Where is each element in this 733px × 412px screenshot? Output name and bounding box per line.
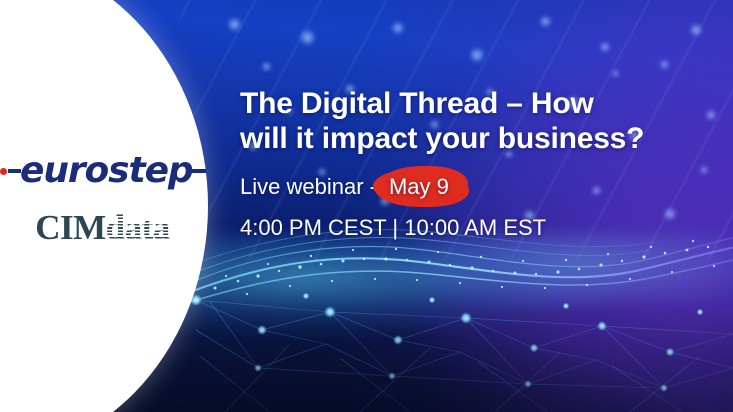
date-highlight-badge: May 9 [379,174,461,201]
eurostep-logo: eurostep [0,150,206,192]
subline-prefix: Live webinar - [240,174,377,199]
page-title: The Digital Thread – How will it impact … [240,86,710,156]
headline-line-1: The Digital Thread – How [240,87,594,120]
cimdata-solid-part: CIM [35,208,105,247]
banner-content: The Digital Thread – How will it impact … [240,86,710,239]
eurostep-red-dot-icon [0,168,7,175]
webinar-promo-banner: eurostep CIMdata The Digital Thread – Ho… [0,0,733,412]
cimdata-logo: CIMdata [0,210,205,245]
cimdata-striped-part: data [106,208,170,247]
eurostep-wordmark: eurostep [20,153,193,189]
webinar-time: 4:00 PM CEST | 10:00 AM EST [240,217,710,239]
headline-line-2: will it impact your business? [240,122,644,155]
eurostep-trailing-dash-icon [192,169,206,173]
webinar-subline: Live webinar - May 9 [240,174,710,201]
logo-group: eurostep CIMdata [0,150,205,245]
webinar-date: May 9 [389,174,449,199]
